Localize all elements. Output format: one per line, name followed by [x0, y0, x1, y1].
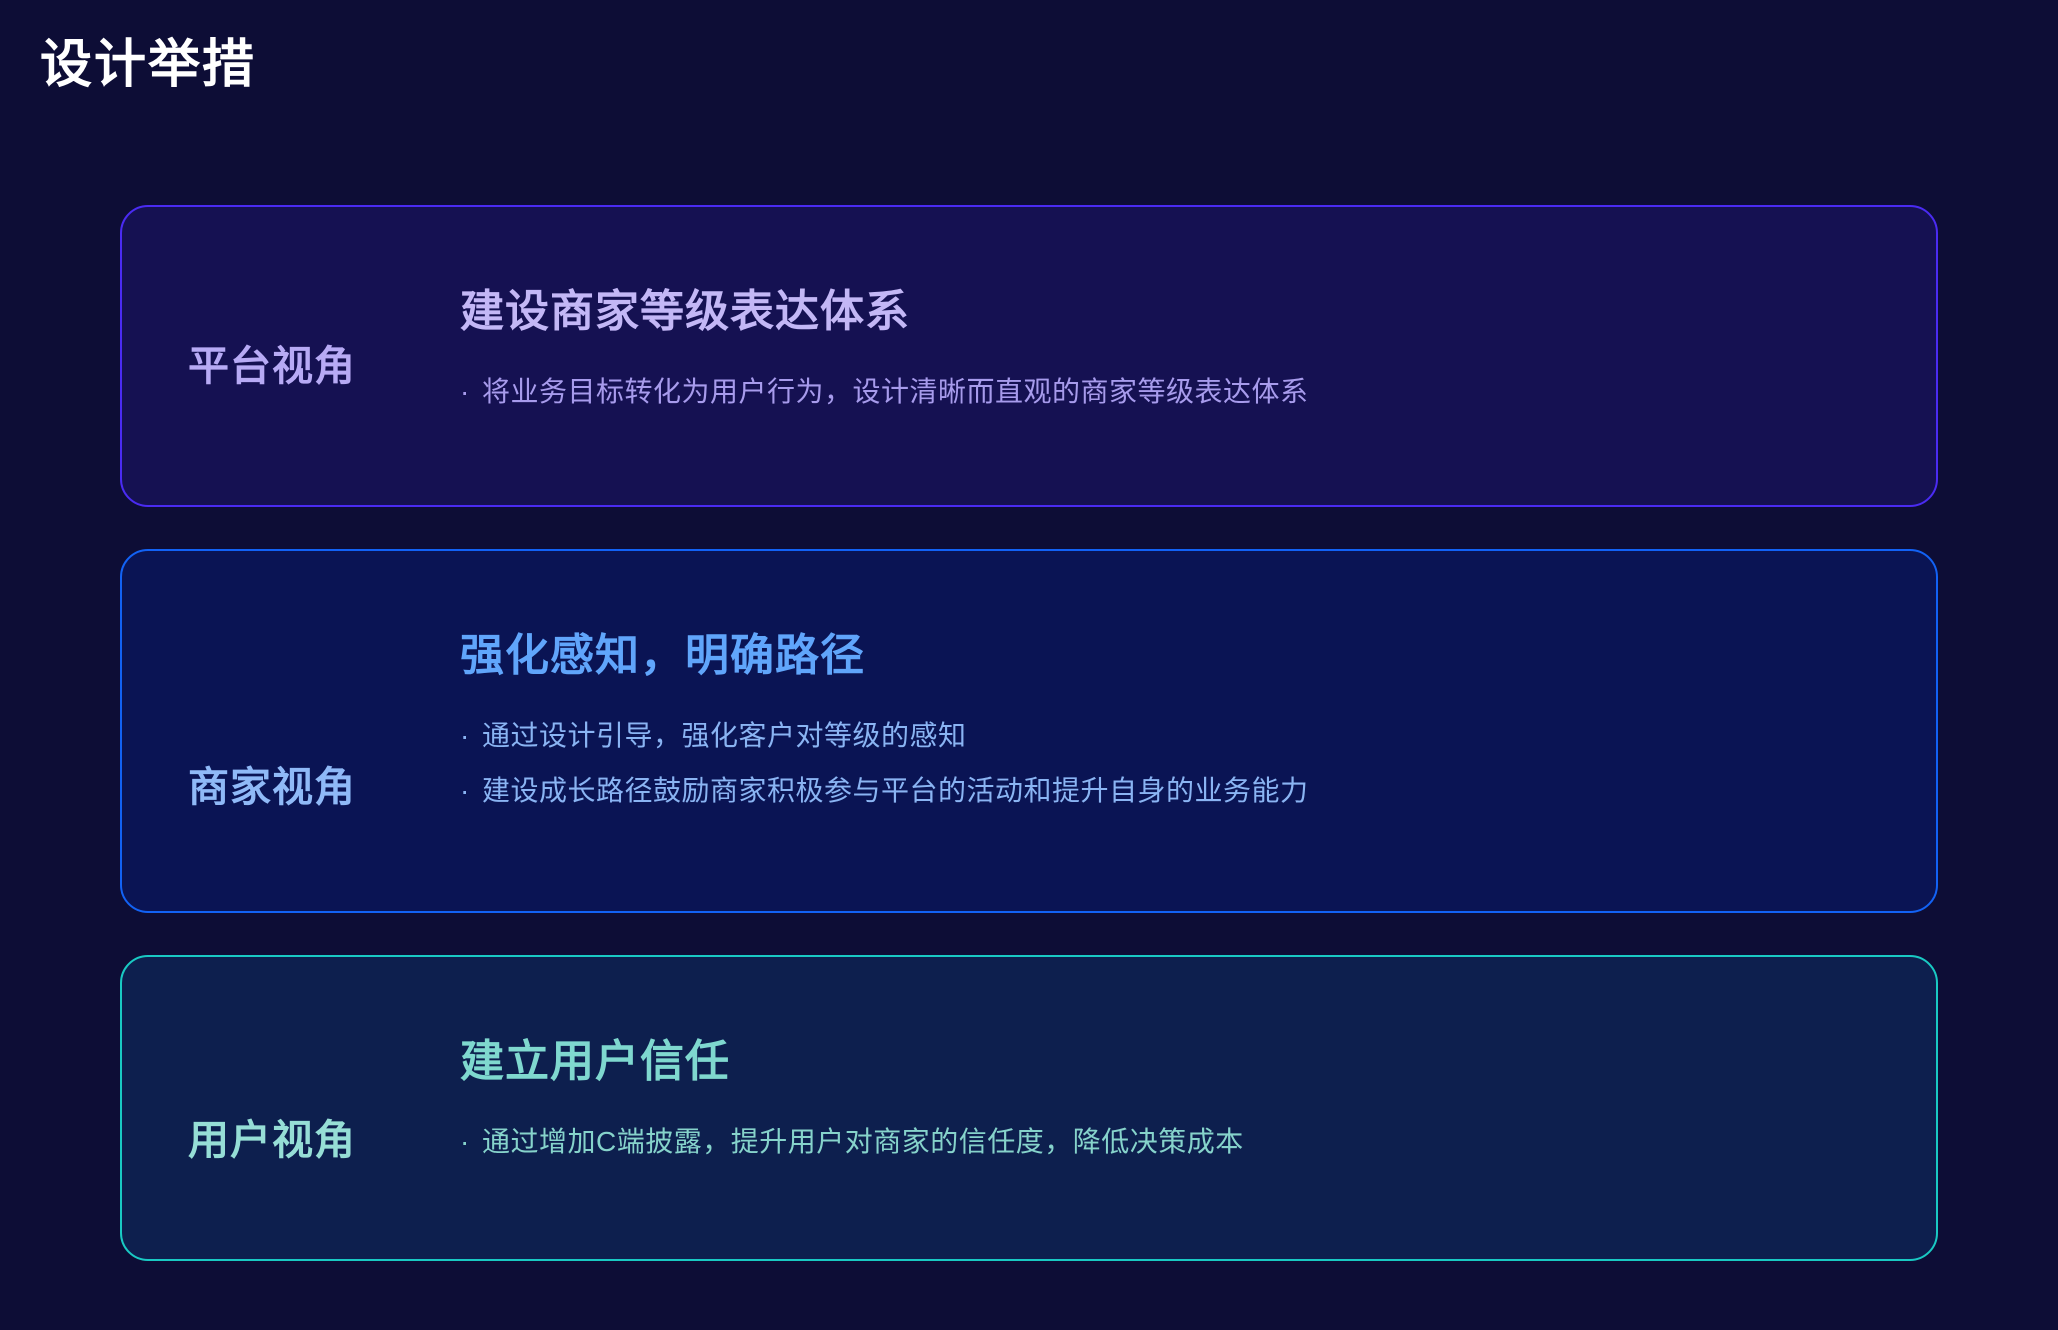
bullet-text: 通过增加C端披露，提升用户对商家的信任度，降低决策成本: [482, 1115, 1244, 1170]
card-body-user: 建立用户信任 · 通过增加C端披露，提升用户对商家的信任度，降低决策成本: [460, 1034, 1936, 1170]
bullet-text: 通过设计引导，强化客户对等级的感知: [482, 709, 967, 764]
bullet-item: · 通过增加C端披露，提升用户对商家的信任度，降低决策成本: [460, 1115, 1876, 1170]
card-bullets-merchant: · 通过设计引导，强化客户对等级的感知 · 建设成长路径鼓励商家积极参与平台的活…: [460, 709, 1876, 818]
perspective-card-list: 平台视角 建设商家等级表达体系 · 将业务目标转化为用户行为，设计清晰而直观的商…: [120, 205, 1938, 1261]
card-bullets-platform: · 将业务目标转化为用户行为，设计清晰而直观的商家等级表达体系: [460, 365, 1876, 420]
bullet-dot-icon: ·: [460, 365, 482, 420]
bullet-item: · 通过设计引导，强化客户对等级的感知: [460, 709, 1876, 764]
card-body-platform: 建设商家等级表达体系 · 将业务目标转化为用户行为，设计清晰而直观的商家等级表达…: [460, 284, 1936, 420]
page-title: 设计举措: [40, 36, 256, 96]
bullet-dot-icon: ·: [460, 764, 482, 819]
bullet-item: · 将业务目标转化为用户行为，设计清晰而直观的商家等级表达体系: [460, 365, 1876, 420]
perspective-card-user: 用户视角 建立用户信任 · 通过增加C端披露，提升用户对商家的信任度，降低决策成…: [120, 955, 1938, 1261]
card-heading-merchant: 强化感知，明确路径: [460, 628, 1876, 683]
perspective-card-merchant: 商家视角 强化感知，明确路径 · 通过设计引导，强化客户对等级的感知 · 建设成…: [120, 549, 1938, 913]
bullet-dot-icon: ·: [460, 1115, 482, 1170]
card-heading-user: 建立用户信任: [460, 1034, 1876, 1089]
card-bullets-user: · 通过增加C端披露，提升用户对商家的信任度，降低决策成本: [460, 1115, 1876, 1170]
bullet-text: 建设成长路径鼓励商家积极参与平台的活动和提升自身的业务能力: [482, 764, 1309, 819]
bullet-text: 将业务目标转化为用户行为，设计清晰而直观的商家等级表达体系: [482, 365, 1309, 420]
bullet-item: · 建设成长路径鼓励商家积极参与平台的活动和提升自身的业务能力: [460, 764, 1876, 819]
card-label-platform: 平台视角: [122, 332, 460, 392]
card-heading-platform: 建设商家等级表达体系: [460, 284, 1876, 339]
perspective-card-platform: 平台视角 建设商家等级表达体系 · 将业务目标转化为用户行为，设计清晰而直观的商…: [120, 205, 1938, 507]
card-label-merchant: 商家视角: [122, 753, 460, 813]
card-body-merchant: 强化感知，明确路径 · 通过设计引导，强化客户对等级的感知 · 建设成长路径鼓励…: [460, 628, 1936, 818]
slide-root: 设计举措 平台视角 建设商家等级表达体系 · 将业务目标转化为用户行为，设计清晰…: [0, 0, 2058, 1330]
bullet-dot-icon: ·: [460, 709, 482, 764]
card-label-user: 用户视角: [122, 1106, 460, 1166]
